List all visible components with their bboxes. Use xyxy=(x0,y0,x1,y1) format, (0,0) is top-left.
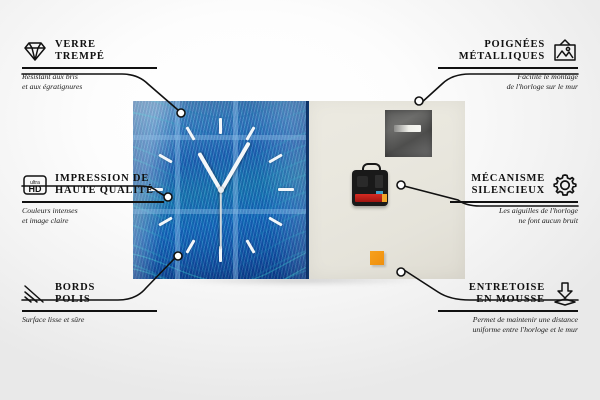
foam-spacer xyxy=(370,251,384,265)
picture-frame-hanger-icon xyxy=(552,38,578,64)
callout-metal-handles: POIGNÉES MÉTALLIQUES Facilite le montage… xyxy=(438,38,578,92)
mechanism-hanging-loop xyxy=(362,163,381,174)
callout-rule xyxy=(438,67,578,69)
clock-second-hand xyxy=(220,191,222,249)
hanger-slot xyxy=(394,125,421,132)
callout-header: BORDS POLIS xyxy=(22,281,162,307)
reflection-line-h1 xyxy=(133,135,309,140)
clock-back-panel xyxy=(309,101,465,279)
callout-foam-spacer: ENTRETOISE EN MOUSSE Permet de maintenir… xyxy=(438,281,578,335)
callout-rule xyxy=(22,67,157,69)
callout-rule xyxy=(22,201,164,203)
diamond-icon xyxy=(22,38,48,64)
metal-hanger-plate xyxy=(385,110,432,157)
callout-title: POIGNÉES MÉTALLIQUES xyxy=(459,39,545,64)
callout-title: VERRE TREMPÉ xyxy=(55,39,105,64)
clock-tick xyxy=(219,118,222,134)
product-image xyxy=(133,101,465,279)
arrow-down-onto-pad-icon xyxy=(552,281,578,307)
callout-subtitle: Les aiguilles de l'horloge ne font aucun… xyxy=(450,206,578,226)
callout-title: BORDS POLIS xyxy=(55,282,95,307)
callout-polished-edges: BORDS POLIS Surface lisse et sûre xyxy=(22,281,162,325)
callout-subtitle: Résistant aux bris et aux égratignures xyxy=(22,72,162,92)
mechanism-detail xyxy=(375,175,383,188)
battery xyxy=(355,194,385,202)
callout-title: IMPRESSION DE HAUTE QUALITÉ xyxy=(55,173,154,198)
callout-header: ENTRETOISE EN MOUSSE xyxy=(438,281,578,307)
callout-rule xyxy=(22,310,157,312)
callout-header: POIGNÉES MÉTALLIQUES xyxy=(438,38,578,64)
gear-icon xyxy=(552,172,578,198)
mechanism-detail xyxy=(357,176,368,187)
callout-title: MÉCANISME SILENCIEUX xyxy=(471,173,545,198)
callout-title: ENTRETOISE EN MOUSSE xyxy=(469,282,545,307)
diagonal-lines-icon xyxy=(22,281,48,307)
callout-subtitle: Facilite le montage de l'horloge sur le … xyxy=(438,72,578,92)
callout-subtitle: Couleurs intenses et image claire xyxy=(22,206,168,226)
callout-tempered-glass: VERRE TREMPÉ Résistant aux bris et aux é… xyxy=(22,38,162,92)
reflection-line-v2 xyxy=(233,101,238,279)
callout-header: MÉCANISME SILENCIEUX xyxy=(450,172,578,198)
callout-header: VERRE TREMPÉ xyxy=(22,38,162,64)
infographic-stage: VERRE TREMPÉ Résistant aux bris et aux é… xyxy=(0,0,600,400)
callout-print-quality: ultra HD IMPRESSION DE HAUTE QUALITÉ Cou… xyxy=(22,172,168,226)
clock-tick xyxy=(278,188,294,191)
reflection-line-v1 xyxy=(175,101,180,279)
ultra-hd-icon-large-text: HD xyxy=(29,184,42,194)
callout-header: ultra HD IMPRESSION DE HAUTE QUALITÉ xyxy=(22,172,168,198)
clock-mechanism xyxy=(352,170,388,206)
callout-subtitle: Permet de maintenir une distance uniform… xyxy=(438,315,578,335)
callout-rule xyxy=(438,310,578,312)
callout-subtitle: Surface lisse et sûre xyxy=(22,315,162,325)
callout-silent-mechanism: MÉCANISME SILENCIEUX Les aiguilles de l'… xyxy=(450,172,578,226)
ultra-hd-icon: ultra HD xyxy=(22,172,48,198)
battery-terminal xyxy=(382,194,387,202)
clock-center-cap xyxy=(218,187,224,193)
callout-rule xyxy=(450,201,578,203)
